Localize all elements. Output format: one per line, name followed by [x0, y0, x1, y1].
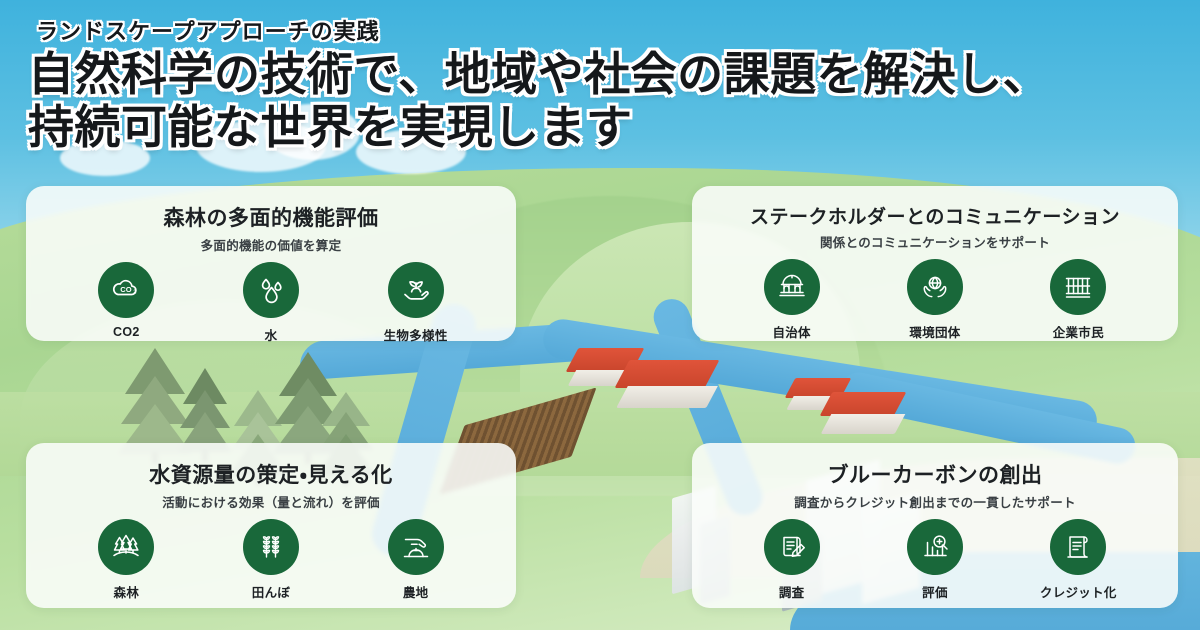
certificate-scroll-icon [1050, 519, 1106, 575]
icon-label: 環境団体 [909, 322, 960, 341]
icon-label: 水 [265, 325, 278, 344]
icon-item-credit[interactable]: クレジット化 [1018, 519, 1138, 601]
house [622, 360, 712, 408]
icon-item-corporate-citizen[interactable]: 企業市民 [1018, 259, 1138, 341]
icon-item-paddy[interactable]: 田んぼ [211, 519, 331, 601]
icon-item-evaluation[interactable]: 評価 [875, 519, 995, 601]
card-title: 森林の多面的機能評価 [44, 202, 498, 232]
conifer-trees-icon [98, 519, 154, 575]
card-forest-multifunction[interactable]: 森林の多面的機能評価 多面的機能の価値を算定 CO 2 CO2 [26, 186, 516, 341]
icon-label: 農地 [403, 582, 429, 601]
card-title: 水資源量の策定・見える化 [44, 459, 498, 489]
headline-line-1: 自然科学の技術で、地域や社会の課題を解決し、 [28, 48, 1178, 101]
card-water-resource-visualization[interactable]: 水資源量の策定・見える化 活動における効果（量と流れ）を評価 森林 [26, 443, 516, 608]
hands-globe-icon [907, 259, 963, 315]
icon-row: 自治体 環境団体 [710, 259, 1160, 341]
card-stakeholder-communication[interactable]: ステークホルダーとのコミュニケーション 関係とのコミュニケーションをサポート 自… [692, 186, 1178, 341]
card-subtitle: 関係とのコミュニケーションをサポート [710, 232, 1160, 251]
infographic-canvas: ランドスケープアプローチの実践 自然科学の技術で、地域や社会の課題を解決し、 持… [0, 0, 1200, 630]
icon-row: 森林 田んぼ [44, 519, 498, 601]
house [826, 392, 900, 434]
hand-sprout-icon [388, 262, 444, 318]
icon-item-forest[interactable]: 森林 [66, 519, 186, 601]
icon-label: 田んぼ [252, 582, 290, 601]
government-building-icon [764, 259, 820, 315]
icon-label: 調査 [779, 582, 805, 601]
svg-text:CO: CO [121, 285, 132, 294]
icon-item-environmental-group[interactable]: 環境団体 [875, 259, 995, 341]
svg-text:2: 2 [134, 290, 137, 296]
document-pen-icon [764, 519, 820, 575]
icon-label: 自治体 [772, 322, 810, 341]
icon-item-municipality[interactable]: 自治体 [732, 259, 852, 341]
card-blue-carbon-creation[interactable]: ブルーカーボンの創出 調査からクレジット創出までの一貫したサポート 調査 [692, 443, 1178, 608]
headline-kicker: ランドスケープアプローチの実践 [36, 14, 1178, 46]
icon-item-survey[interactable]: 調査 [732, 519, 852, 601]
icon-row: CO 2 CO2 水 [44, 262, 498, 344]
icon-item-water[interactable]: 水 [211, 262, 331, 344]
icon-item-biodiversity[interactable]: 生物多様性 [356, 262, 476, 344]
icon-label: 森林 [114, 582, 140, 601]
icon-label: 企業市民 [1053, 322, 1104, 341]
icon-label: 評価 [922, 582, 948, 601]
icon-label: クレジット化 [1040, 582, 1117, 601]
card-subtitle: 多面的機能の価値を算定 [44, 235, 498, 254]
card-subtitle: 活動における効果（量と流れ）を評価 [44, 492, 498, 511]
chart-magnifier-icon [907, 519, 963, 575]
rice-stalks-icon [243, 519, 299, 575]
headline-line-2: 持続可能な世界を実現します [28, 101, 1178, 154]
card-subtitle: 調査からクレジット創出までの一貫したサポート [710, 492, 1160, 511]
card-title: ブルーカーボンの創出 [710, 459, 1160, 489]
hand-planting-icon [388, 519, 444, 575]
corporate-building-icon [1050, 259, 1106, 315]
water-droplet-icon [243, 262, 299, 318]
card-title: ステークホルダーとのコミュニケーション [710, 202, 1160, 229]
icon-row: 調査 評価 [710, 519, 1160, 601]
co2-cloud-icon: CO 2 [98, 262, 154, 318]
icon-label: 生物多様性 [384, 325, 448, 344]
icon-label: CO2 [113, 325, 140, 339]
icon-item-farmland[interactable]: 農地 [356, 519, 476, 601]
icon-item-co2[interactable]: CO 2 CO2 [66, 262, 186, 339]
headline-block: ランドスケープアプローチの実践 自然科学の技術で、地域や社会の課題を解決し、 持… [28, 8, 1178, 154]
